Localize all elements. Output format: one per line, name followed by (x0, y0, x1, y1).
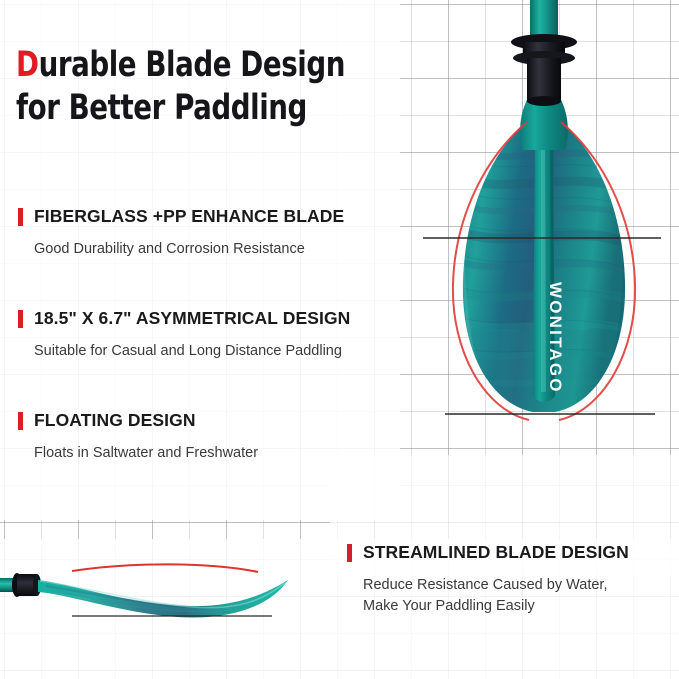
brand-logotype: WONITAGO (545, 282, 565, 394)
feature-heading: STREAMLINED BLADE DESIGN (347, 542, 679, 563)
red-bar-marker-icon (18, 310, 23, 328)
feature-block-asymmetrical: 18.5" X 6.7" ASYMMETRICAL DESIGN Suitabl… (18, 308, 410, 362)
feature-subtitle: Reduce Resistance Caused by Water, Make … (363, 575, 679, 617)
red-bar-marker-icon (18, 208, 23, 226)
feature-title: FIBERGLASS +PP ENHANCE BLADE (34, 206, 344, 227)
feature-heading: FLOATING DESIGN (18, 410, 410, 431)
feature-heading: FIBERGLASS +PP ENHANCE BLADE (18, 206, 410, 227)
page-title-line-2: for Better Paddling (16, 87, 368, 130)
red-bar-marker-icon (347, 544, 352, 562)
ferrule-collar-bottom (527, 96, 561, 106)
title-line-1-rest: urable Blade Design (39, 45, 345, 85)
feature-subtitle: Suitable for Casual and Long Distance Pa… (34, 341, 410, 362)
title-accent-letter: D (16, 45, 39, 85)
feature-subtitle: Good Durability and Corrosion Resistance (34, 239, 410, 260)
feature-block-floating: FLOATING DESIGN Floats in Saltwater and … (18, 410, 410, 464)
product-infographic: Durable Blade Design for Better Paddling… (0, 0, 679, 679)
paddle-blade-front-view (405, 0, 679, 500)
page-title-line-1: Durable Blade Design (16, 44, 368, 87)
feature-title: FLOATING DESIGN (34, 410, 196, 431)
feature-subtitle-line-2: Make Your Paddling Easily (363, 596, 679, 617)
red-bar-marker-icon (18, 412, 23, 430)
feature-heading: 18.5" X 6.7" ASYMMETRICAL DESIGN (18, 308, 410, 329)
page-title: Durable Blade Design for Better Paddling (16, 44, 368, 130)
edge-blade-surface (38, 580, 288, 618)
curvature-arc-annotation (72, 564, 258, 572)
feature-block-streamlined: STREAMLINED BLADE DESIGN Reduce Resistan… (347, 542, 679, 617)
feature-subtitle-line-1: Reduce Resistance Caused by Water, (363, 575, 679, 596)
feature-subtitle: Floats in Saltwater and Freshwater (34, 443, 410, 464)
ferrule-body (527, 58, 561, 102)
feature-block-fiberglass: FIBERGLASS +PP ENHANCE BLADE Good Durabi… (18, 206, 410, 260)
feature-title: STREAMLINED BLADE DESIGN (363, 542, 629, 563)
feature-title: 18.5" X 6.7" ASYMMETRICAL DESIGN (34, 308, 350, 329)
paddle-blade-edge-view (0, 536, 330, 646)
